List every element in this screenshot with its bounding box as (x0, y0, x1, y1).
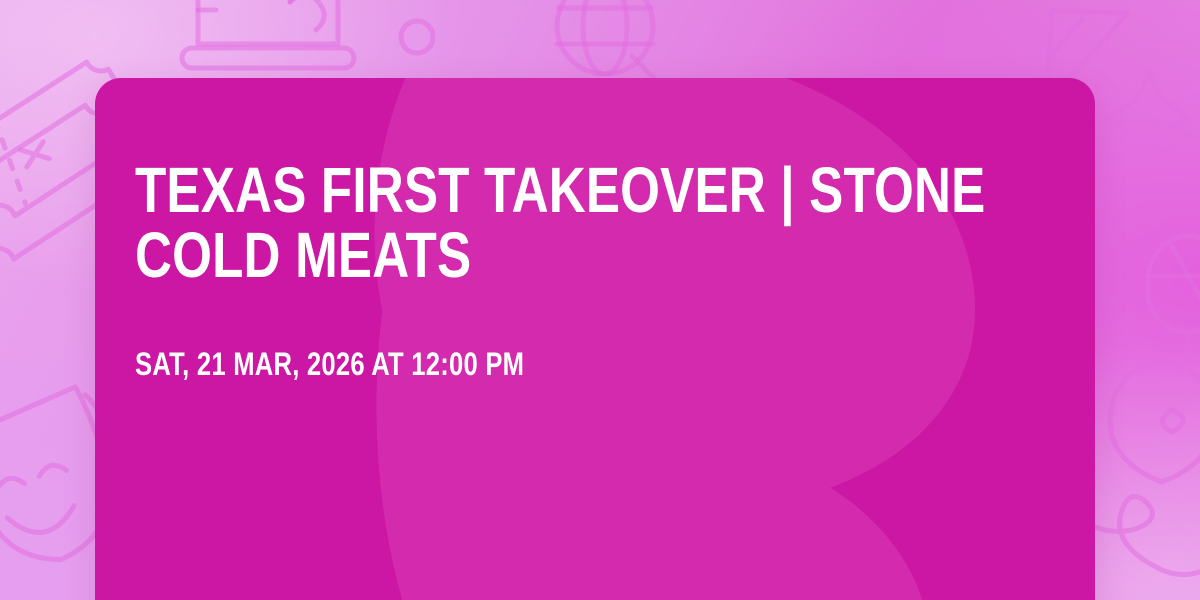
circle-dot-icon (394, 14, 440, 60)
sparkle-star-icon (1094, 62, 1200, 172)
event-date-time: SAT, 21 MAR, 2026 AT 12:00 PM (135, 347, 1055, 382)
event-banner: TEXAS FIRST TAKEOVER | STONE COLD MEATS … (0, 0, 1200, 600)
event-title: TEXAS FIRST TAKEOVER | STONE COLD MEATS (135, 158, 1055, 289)
event-card-content: TEXAS FIRST TAKEOVER | STONE COLD MEATS … (135, 78, 1055, 600)
event-card: TEXAS FIRST TAKEOVER | STONE COLD MEATS … (95, 78, 1095, 600)
